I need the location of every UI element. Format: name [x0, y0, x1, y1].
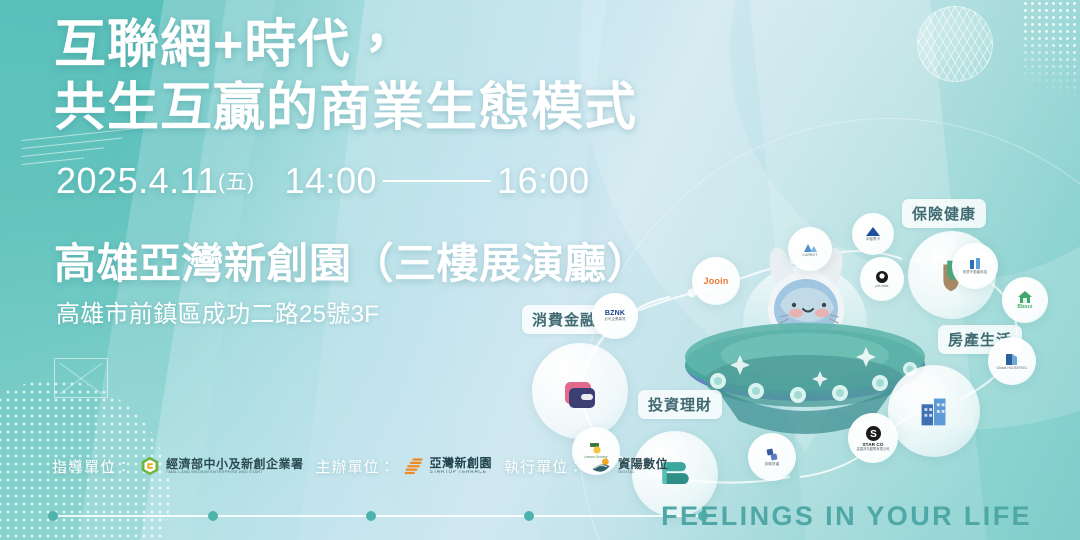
- partner-logo-anse: 安瑟不動產科技: [963, 257, 987, 274]
- lemon-icon: [588, 442, 604, 455]
- bubble-partner-jooin: Jooin: [692, 257, 740, 305]
- organizer-executor: 執行單位： 資陽數位 DIGITAL: [504, 455, 668, 477]
- category-label-investment: 投資理財: [638, 390, 722, 419]
- organizer-logo-2: 資陽數位 DIGITAL: [591, 455, 668, 477]
- moea-sme-logo-icon: [139, 455, 161, 477]
- organizer-role-label-0: 指導單位：: [52, 456, 132, 477]
- partner-logo-housefeel: Global HOUSEFEEL: [996, 352, 1027, 370]
- tower-icon: [967, 257, 983, 270]
- paw-icon: [875, 270, 889, 284]
- bubble-partner-yingshu: 英屬資產: [748, 433, 796, 481]
- timeline-dot: [208, 511, 218, 521]
- partner-logo-jooin: Jooin: [704, 277, 729, 286]
- page-title: 互聯網+時代， 共生互贏的商業生態模式: [54, 14, 637, 141]
- time-range-dash: [383, 180, 491, 182]
- partner-logo-yingshu: 英屬資產: [765, 447, 780, 467]
- organizer-host: 主辦單位： 亞灣新創園 STARTUP TERRACE: [316, 455, 493, 477]
- bottom-timeline: [48, 511, 708, 521]
- partner-logo-carrot: CARROT: [802, 241, 818, 257]
- bubble-partner-bznk: BZNK 必可企業募資: [592, 293, 638, 339]
- partner-logo-bbozz: Bbozz: [1017, 290, 1033, 310]
- event-weekday: (五): [218, 166, 255, 196]
- category-label-insurance-health: 保險健康: [902, 199, 986, 228]
- wallet-icon: [557, 368, 603, 414]
- ziyang-digital-logo-icon: [591, 455, 613, 477]
- bubble-property-life: [888, 365, 980, 457]
- organizer-role-label-2: 執行單位：: [504, 456, 584, 477]
- building-icon: [912, 389, 956, 433]
- organizer-logo-0: 經濟部中小及新創企業署 SMALL AND MEDIUM ENTERPRISE …: [139, 455, 304, 477]
- bubble-partner-petdata: pet data: [860, 257, 904, 301]
- partner-logo-starco: S STAR CO 星圖資訊顧問有限公司: [857, 425, 890, 452]
- timeline-dot: [524, 511, 534, 521]
- organizer-guidance: 指導單位： 經濟部中小及新創企業署 SMALL AND MEDIUM ENTER…: [52, 455, 304, 477]
- bubble-partner-housefeel: Global HOUSEFEEL: [988, 337, 1036, 385]
- home-door-icon: [1004, 352, 1019, 366]
- bubble-partner-anse: 安瑟不動產科技: [952, 243, 998, 289]
- event-address: 高雄市前鎮區成功二路25號3F: [56, 294, 379, 329]
- tagline: FEELINGS IN YOUR LIFE: [661, 501, 1032, 532]
- timeline-dot: [366, 511, 376, 521]
- s-circle-icon: S: [865, 425, 882, 442]
- bubble-partner-carrot: CARROT: [788, 227, 832, 271]
- triangle-icon: [865, 227, 881, 237]
- organizer-list: 指導單位： 經濟部中小及新創企業署 SMALL AND MEDIUM ENTER…: [52, 455, 668, 477]
- bubble-partner-starco: S STAR CO 星圖資訊顧問有限公司: [848, 413, 898, 463]
- organizer-name-2: 資陽數位 DIGITAL: [618, 458, 668, 475]
- timeline-dot: [48, 511, 58, 521]
- event-time-start: 14:00: [284, 160, 377, 202]
- startup-terrace-logo-icon: [403, 455, 425, 477]
- organizer-name-0: 經濟部中小及新創企業署 SMALL AND MEDIUM ENTERPRISE …: [166, 458, 304, 475]
- svg-text:S: S: [870, 429, 877, 440]
- bubble-consumer-finance: [532, 343, 628, 439]
- event-poster: 互聯網+時代， 共生互贏的商業生態模式 2025.4.11(五) 14:00 1…: [0, 0, 1080, 540]
- event-datetime: 2025.4.11(五) 14:00 16:00: [56, 160, 590, 202]
- title-line-1: 互聯網+時代，: [54, 16, 403, 74]
- organizer-name-1: 亞灣新創園 STARTUP TERRACE: [430, 457, 493, 475]
- partner-logo-zhongzu: 中租零卡: [865, 227, 881, 242]
- organizer-logo-1: 亞灣新創園 STARTUP TERRACE: [403, 455, 493, 477]
- organizer-role-label-1: 主辦單位：: [316, 456, 396, 477]
- mountain-icon: [802, 241, 818, 253]
- partner-logo-bznk: BZNK 必可企業募資: [605, 310, 626, 321]
- timeline-bar: [48, 515, 708, 517]
- blocks-icon: [765, 447, 780, 462]
- bubble-partner-bbozz: Bbozz: [1002, 277, 1048, 323]
- partner-logo-petdata: pet data: [875, 270, 889, 288]
- house-icon: [1017, 290, 1033, 304]
- title-line-2: 共生互贏的商業生態模式: [54, 77, 637, 140]
- event-date: 2025.4.11: [56, 160, 218, 202]
